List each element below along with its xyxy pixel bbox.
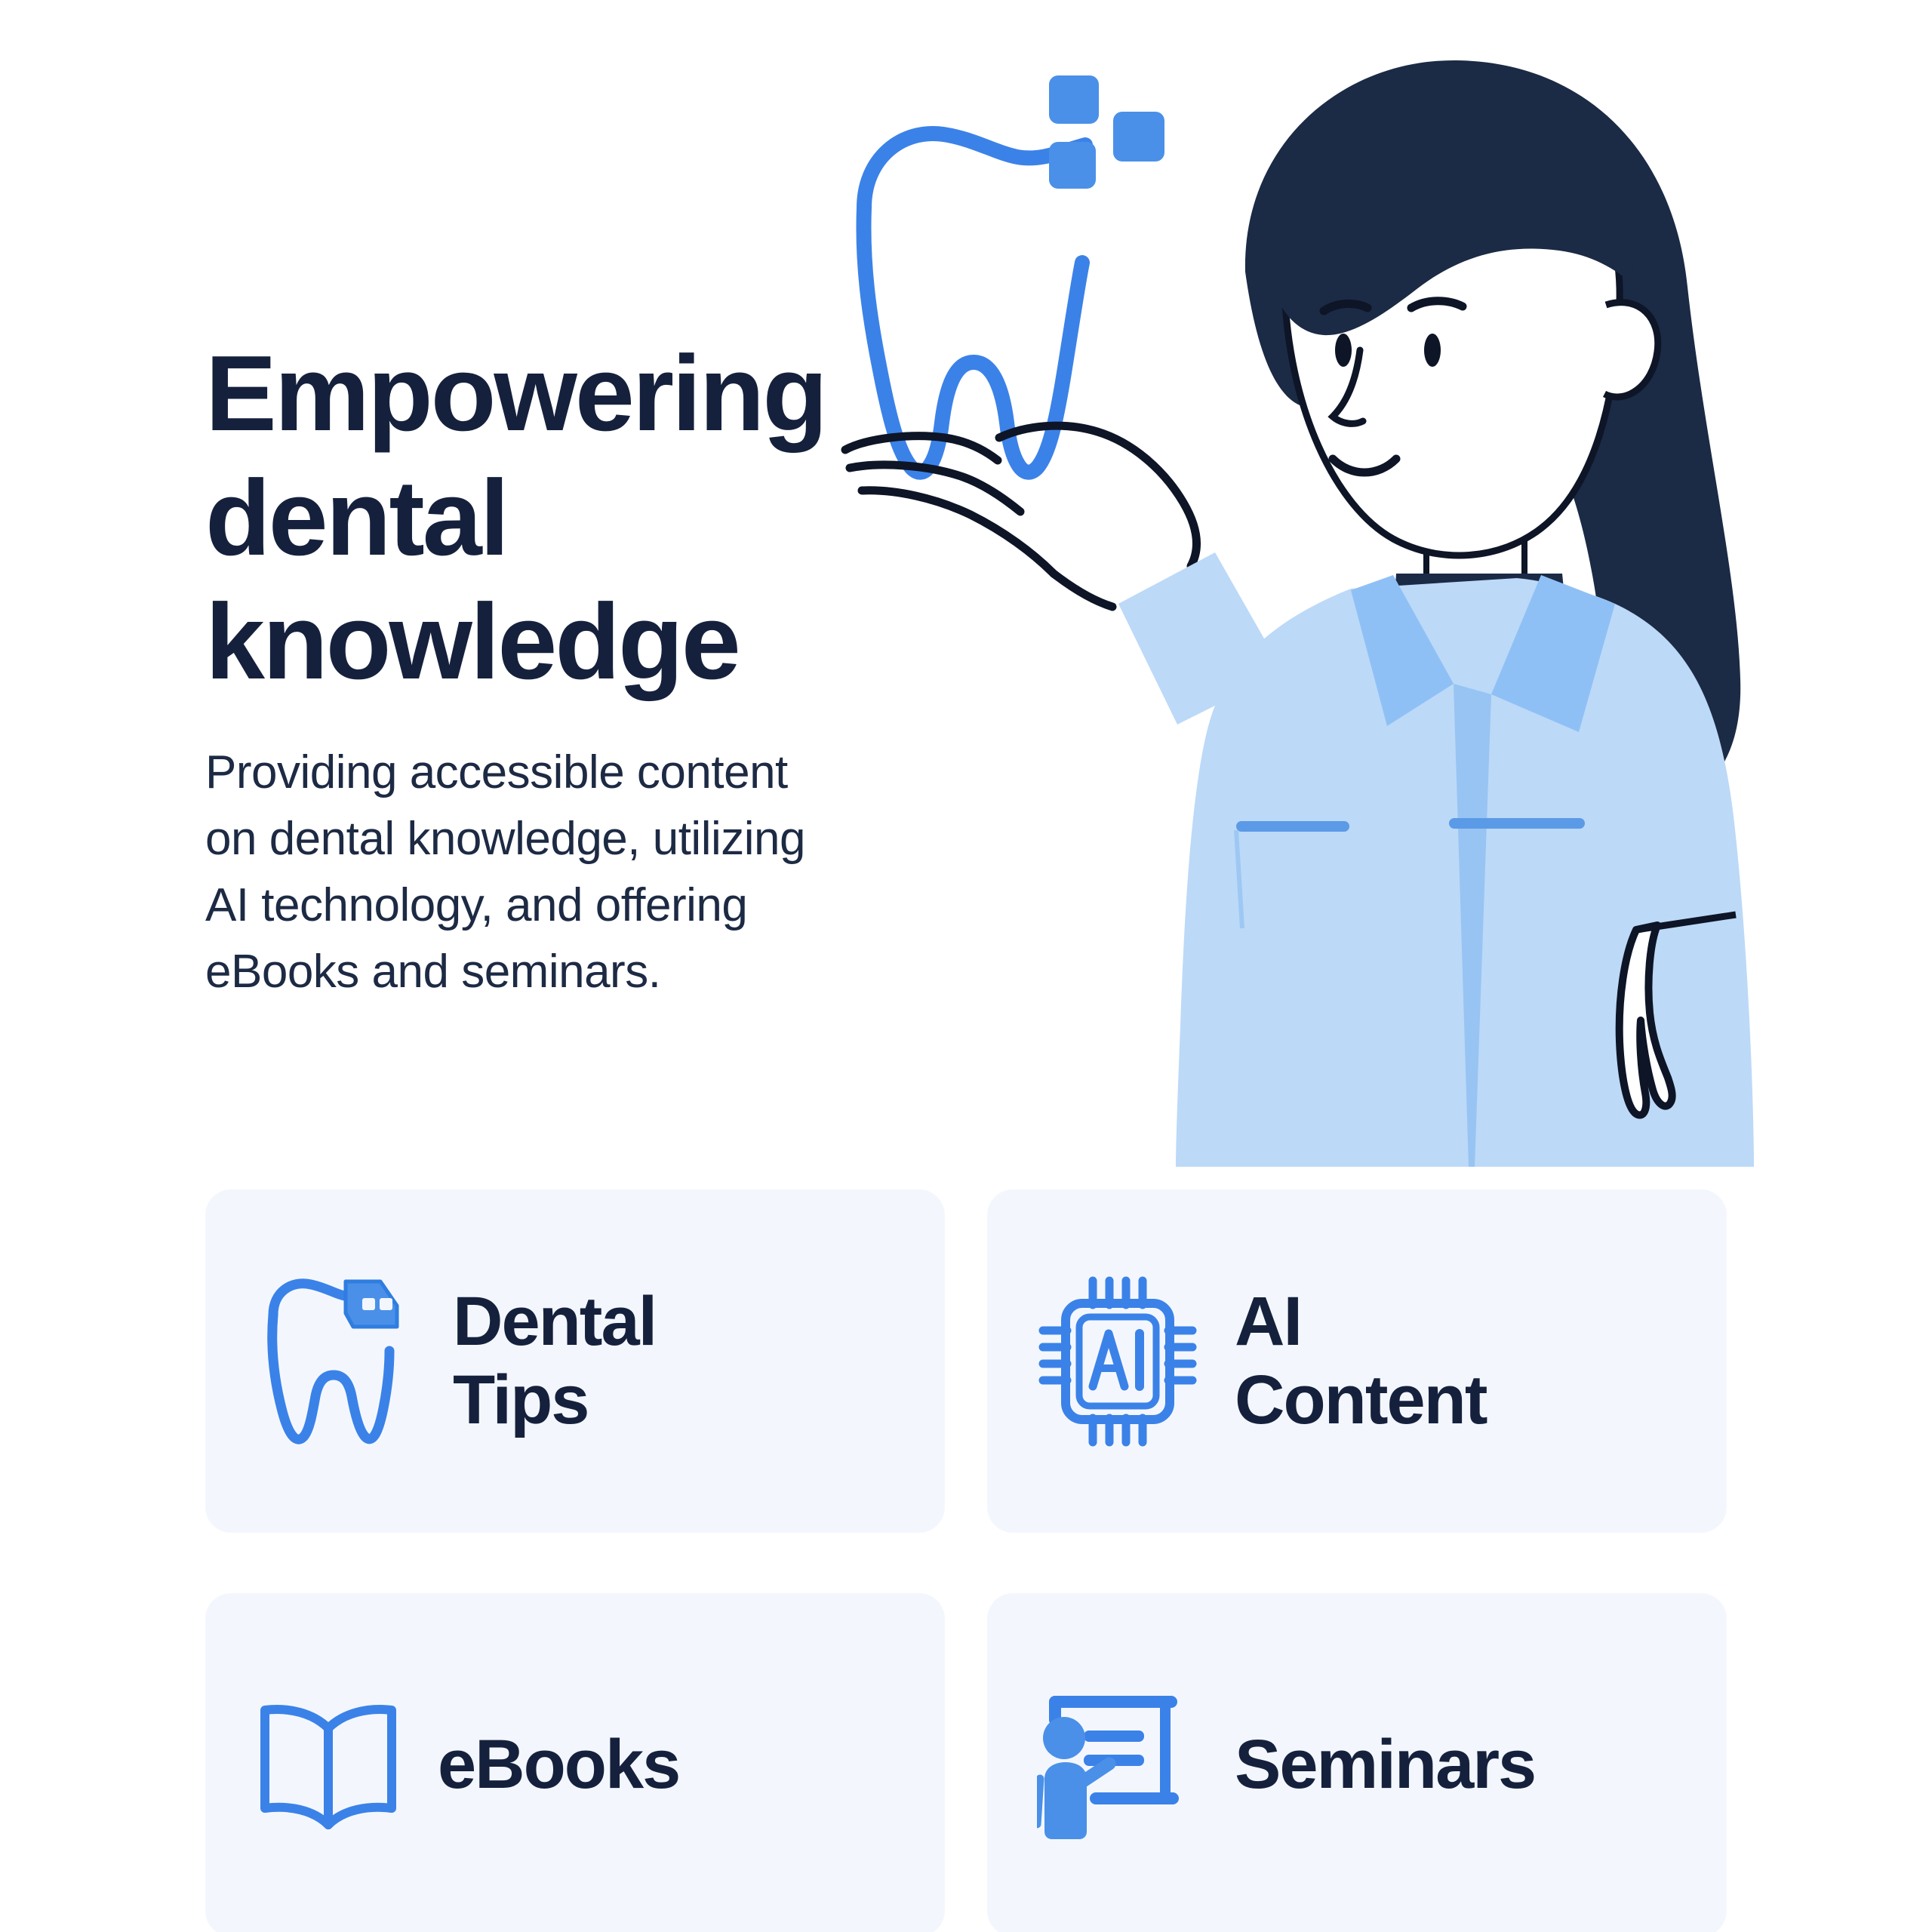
feature-card-label: Seminars [1235,1726,1535,1804]
coat-pocket-left [1236,821,1349,832]
tooth-brace-icon [249,1267,423,1456]
feature-card-seminars[interactable]: Seminars [987,1593,1727,1932]
digital-tooth-icon [863,75,1164,472]
infographic-canvas: Empowering dental knowledge Providing ac… [0,0,1932,1932]
coat-pocket-right [1449,818,1585,829]
open-book-icon [249,1671,408,1860]
ai-chip-icon [1031,1267,1204,1456]
feature-card-label: AI Content [1235,1283,1486,1438]
feature-card-dental-tips[interactable]: Dental Tips [205,1189,945,1533]
dentist-illustration [823,45,1879,1177]
feature-card-ebooks[interactable]: eBooks [205,1593,945,1932]
page-subtitle: Providing accessible content on dental k… [205,740,915,1005]
eye-left [1335,334,1352,367]
feature-card-label: eBooks [438,1726,679,1804]
feature-card-grid: Dental Tips [205,1189,1727,1932]
eye-right [1424,334,1441,367]
hero-text-block: Empowering dental knowledge Providing ac… [205,332,915,1005]
presenter-board-icon [1031,1671,1204,1860]
page-title: Empowering dental knowledge [205,332,915,705]
feature-card-ai-content[interactable]: AI Content [987,1189,1727,1533]
feature-card-label: Dental Tips [453,1283,656,1438]
